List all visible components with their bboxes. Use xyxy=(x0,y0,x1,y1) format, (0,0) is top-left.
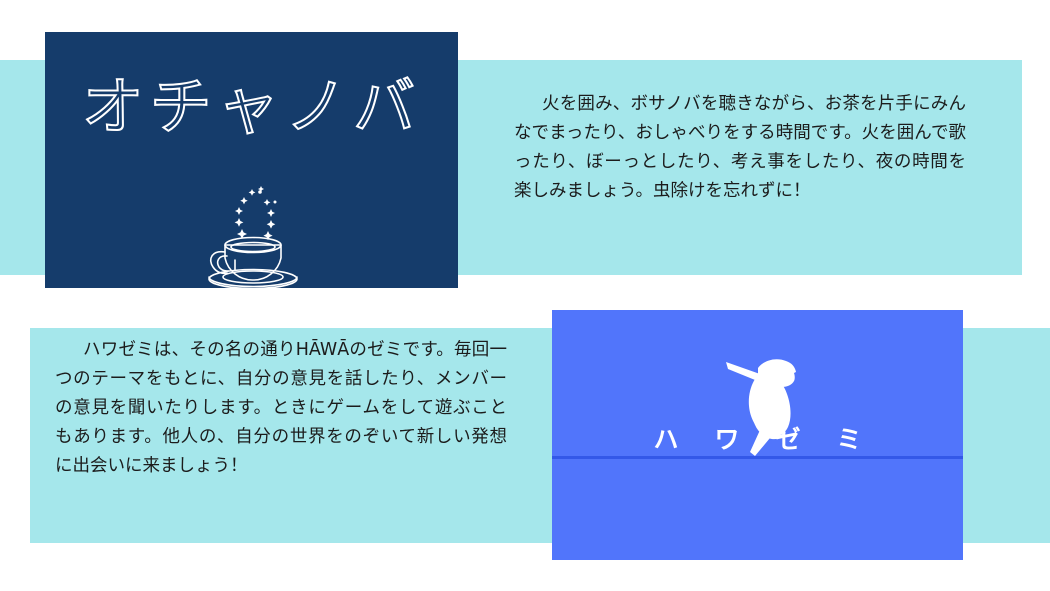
paragraph-ochanoba: 火を囲み、ボサノバを聴きながら、お茶を片手にみんなでまったり、おしゃべりをする時… xyxy=(514,90,966,206)
slide-canvas: オチャノバ xyxy=(0,0,1050,591)
teacup-icon xyxy=(187,182,317,288)
card-hawazemi: ハワゼミ xyxy=(552,310,963,560)
kingfisher-bird-icon xyxy=(724,348,802,458)
card-ochanoba: オチャノバ xyxy=(45,32,458,288)
paragraph-hawazemi: ハワゼミは、その名の通りHĀWĀのゼミです。毎回一つのテーマをもとに、自分の意見… xyxy=(55,336,507,481)
ochanoba-title: オチャノバ xyxy=(45,76,458,138)
